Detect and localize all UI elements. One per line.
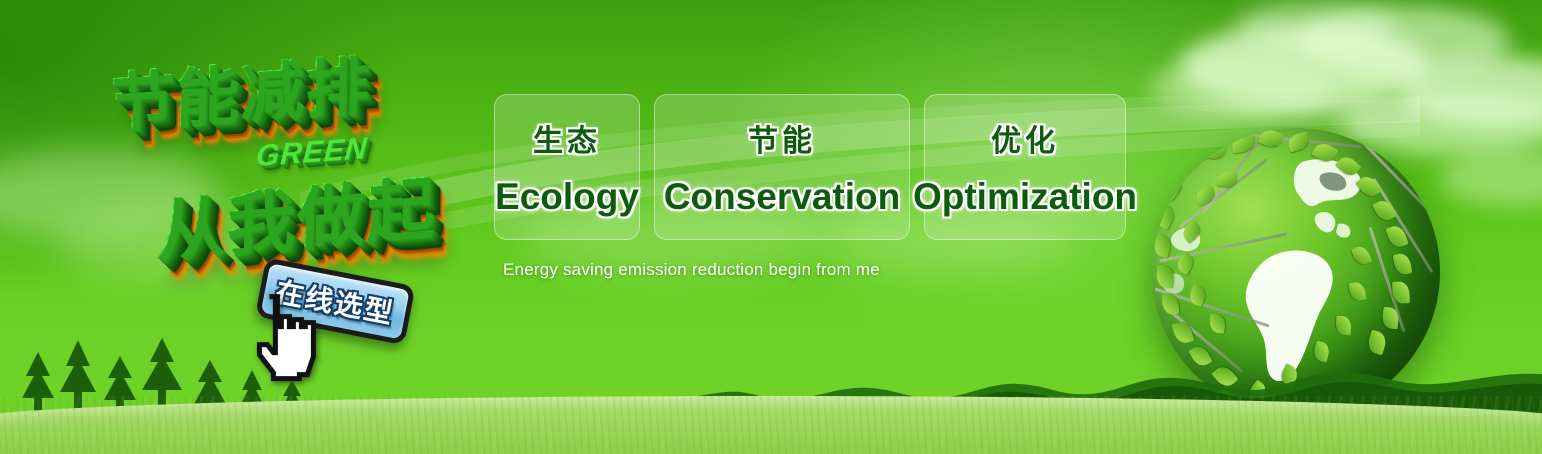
grass-field-icon xyxy=(0,396,1542,454)
feature-card-cn-label: 生态 xyxy=(533,116,601,160)
cloud-icon xyxy=(1150,58,1330,118)
feature-card-en-label: Ecology xyxy=(495,176,639,218)
feature-card-en-label: Optimization xyxy=(913,176,1137,218)
headline-line-2: 从我做起 xyxy=(156,152,437,276)
feature-card-en-label: Conservation xyxy=(664,176,900,218)
headline-block: 节能减排 GREEN 从我做起 xyxy=(96,36,496,276)
feature-card-cn-label: 优化 xyxy=(991,116,1059,160)
banner-tagline: Energy saving emission reduction begin f… xyxy=(503,260,880,280)
feature-card-list: 生态 Ecology 节能 Conservation 优化 Optimizati… xyxy=(494,94,1126,240)
grass-texture xyxy=(0,396,1542,454)
feature-card-ecology[interactable]: 生态 Ecology xyxy=(494,94,640,240)
feature-card-cn-label: 节能 xyxy=(748,116,816,160)
cloud-icon xyxy=(1440,150,1542,206)
feature-card-optimization[interactable]: 优化 Optimization xyxy=(924,94,1126,240)
promo-banner: 节能减排 GREEN 从我做起 生态 Ecology 节能 Conservati… xyxy=(0,0,1542,454)
feature-card-conservation[interactable]: 节能 Conservation xyxy=(654,94,910,240)
headline-line-1: 节能减排 xyxy=(110,35,371,144)
